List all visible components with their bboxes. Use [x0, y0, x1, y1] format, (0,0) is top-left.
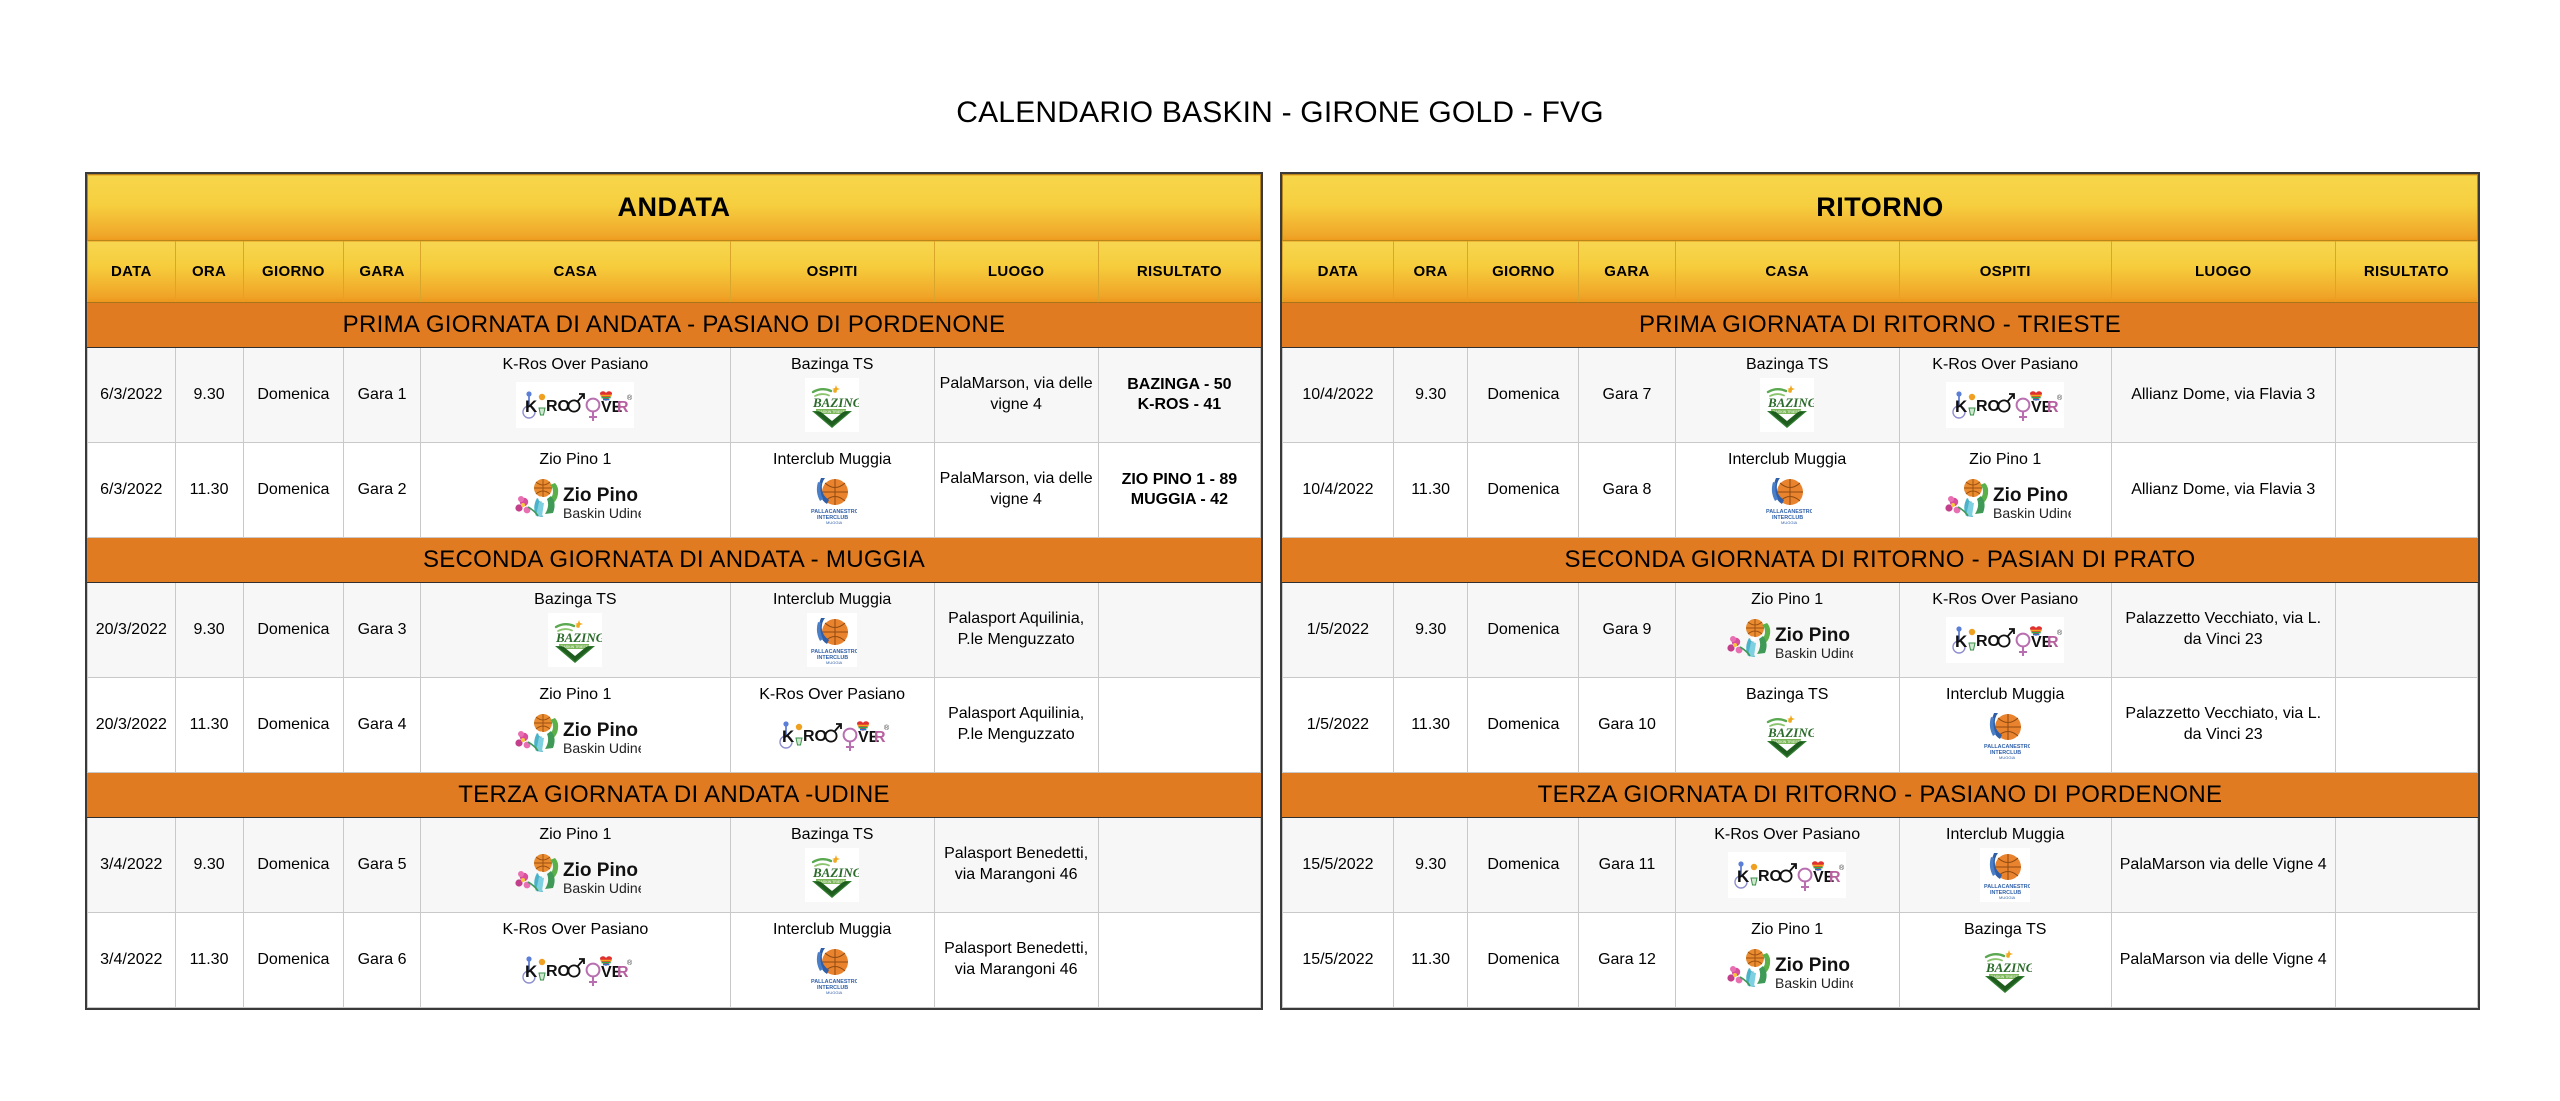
- team-name-ospiti: K-Ros Over Pasiano: [734, 686, 931, 704]
- column-header-ospiti: OSPITI: [730, 241, 934, 303]
- team-name-casa: Interclub Muggia: [1679, 451, 1896, 469]
- team-name-casa: Zio Pino 1: [424, 826, 727, 844]
- svg-text:BAZINGA: BAZINGA: [1985, 960, 2032, 975]
- cell-casa: Zio Pino 1 Zio Pino Baskin Udine: [1675, 913, 1899, 1008]
- ziopino-logo: Zio Pino Baskin Udine: [1721, 944, 1853, 996]
- team-name-ospiti: K-Ros Over Pasiano: [1903, 356, 2108, 374]
- column-header-row: DATAORAGIORNOGARACASAOSPITILUOGORISULTAT…: [88, 241, 1261, 303]
- cell-ora: 11.30: [175, 678, 243, 773]
- column-header-luogo: LUOGO: [2111, 241, 2335, 303]
- cell-data: 1/5/2022: [1283, 678, 1394, 773]
- muggia-logo: PALLACANESTRO INTERCLUB MUGGIA: [1980, 708, 2030, 762]
- team-name-casa: K-Ros Over Pasiano: [1679, 826, 1896, 844]
- cell-casa: K-Ros Over Pasiano K RO VE R ®: [420, 913, 730, 1008]
- cell-giorno: Domenica: [1468, 913, 1579, 1008]
- team-name-casa: Zio Pino 1: [424, 686, 727, 704]
- team-name-ospiti: Interclub Muggia: [1903, 826, 2108, 844]
- svg-text:RO: RO: [546, 398, 570, 415]
- team-name-ospiti: Bazinga TS: [1903, 921, 2108, 939]
- svg-text:BAZINGA: BAZINGA: [555, 630, 602, 645]
- team-logo-casa: K RO VE R ®: [1679, 846, 1896, 904]
- svg-text:Baskin Udine: Baskin Udine: [1775, 975, 1853, 991]
- team-logo-casa: Zio Pino Baskin Udine: [424, 706, 727, 764]
- svg-text:K: K: [1955, 632, 1968, 651]
- giornata-heading: PRIMA GIORNATA DI ANDATA - PASIANO DI PO…: [88, 303, 1261, 348]
- svg-text:K: K: [1955, 397, 1968, 416]
- svg-text:®: ®: [627, 394, 633, 402]
- cell-ospiti: K-Ros Over Pasiano K RO VE R ®: [1899, 583, 2111, 678]
- cell-risultato: [1098, 818, 1260, 913]
- cell-ospiti: Interclub Muggia PALLACANESTRO INTERCLUB…: [1899, 678, 2111, 773]
- svg-text:BAZINGA: BAZINGA: [1767, 725, 1814, 740]
- cell-casa: Interclub Muggia PALLACANESTRO INTERCLUB…: [1675, 443, 1899, 538]
- team-logo-ospiti: K RO VE R ®: [1903, 376, 2108, 434]
- ziopino-logo: Zio Pino Baskin Udine: [1721, 614, 1853, 666]
- cell-ora: 11.30: [1393, 443, 1468, 538]
- cell-giorno: Domenica: [1468, 678, 1579, 773]
- cell-data: 10/4/2022: [1283, 348, 1394, 443]
- table-row: 20/3/202211.30DomenicaGara 4Zio Pino 1 Z…: [88, 678, 1261, 773]
- table-andata: ANDATADATAORAGIORNOGARACASAOSPITILUOGORI…: [85, 172, 1263, 1010]
- bazinga-logo: BAZINGA BASKIN TRIESTE: [1760, 708, 1814, 762]
- column-header-gara: GARA: [1579, 241, 1675, 303]
- cell-risultato: [2335, 913, 2477, 1008]
- svg-text:MUGGIA: MUGGIA: [1999, 895, 2016, 900]
- team-logo-ospiti: PALLACANESTRO INTERCLUB MUGGIA: [734, 941, 931, 999]
- team-logo-ospiti: BAZINGA BASKIN TRIESTE: [734, 846, 931, 904]
- team-name-casa: Bazinga TS: [424, 591, 727, 609]
- cell-luogo: Allianz Dome, via Flavia 3: [2111, 348, 2335, 443]
- team-logo-ospiti: K RO VE R ®: [734, 706, 931, 764]
- cell-risultato: [1098, 913, 1260, 1008]
- team-name-casa: Zio Pino 1: [1679, 921, 1896, 939]
- kros-logo: K RO VE R ®: [773, 712, 891, 758]
- cell-gara: Gara 1: [344, 348, 421, 443]
- cell-luogo: Palasport Benedetti, via Marangoni 46: [934, 818, 1098, 913]
- schedule-grid-andata: ANDATADATAORAGIORNOGARACASAOSPITILUOGORI…: [87, 174, 1261, 1008]
- cell-ora: 9.30: [1393, 348, 1468, 443]
- giornata-row: SECONDA GIORNATA DI RITORNO - PASIAN DI …: [1283, 538, 2478, 583]
- cell-ora: 11.30: [175, 443, 243, 538]
- table-row: 10/4/20229.30DomenicaGara 7Bazinga TS BA…: [1283, 348, 2478, 443]
- column-header-risultato: RISULTATO: [2335, 241, 2477, 303]
- cell-luogo: PalaMarson, via delle vigne 4: [934, 348, 1098, 443]
- bazinga-logo: BAZINGA BASKIN TRIESTE: [805, 848, 859, 902]
- cell-casa: Zio Pino 1 Zio Pino Baskin Udine: [420, 443, 730, 538]
- kros-logo: K RO VE R ®: [516, 947, 634, 993]
- table-ritorno: RITORNODATAORAGIORNOGARACASAOSPITILUOGOR…: [1280, 172, 2480, 1010]
- cell-ospiti: K-Ros Over Pasiano K RO VE R ®: [730, 678, 934, 773]
- cell-data: 3/4/2022: [88, 818, 176, 913]
- giornata-heading: SECONDA GIORNATA DI RITORNO - PASIAN DI …: [1283, 538, 2478, 583]
- cell-risultato: ZIO PINO 1 - 89MUGGIA - 42: [1098, 443, 1260, 538]
- svg-text:BAZINGA: BAZINGA: [812, 395, 859, 410]
- team-logo-casa: BAZINGA BASKIN TRIESTE: [1679, 706, 1896, 764]
- column-header-row: DATAORAGIORNOGARACASAOSPITILUOGORISULTAT…: [1283, 241, 2478, 303]
- cell-gara: Gara 12: [1579, 913, 1675, 1008]
- cell-giorno: Domenica: [243, 348, 344, 443]
- cell-ospiti: Bazinga TS BAZINGA BASKIN TRIESTE: [1899, 913, 2111, 1008]
- cell-ospiti: Interclub Muggia PALLACANESTRO INTERCLUB…: [730, 583, 934, 678]
- svg-text:BAZINGA: BAZINGA: [812, 865, 859, 880]
- cell-casa: K-Ros Over Pasiano K RO VE R ®: [1675, 818, 1899, 913]
- giornata-row: PRIMA GIORNATA DI RITORNO - TRIESTE: [1283, 303, 2478, 348]
- bazinga-logo: BAZINGA BASKIN TRIESTE: [805, 378, 859, 432]
- svg-text:RO: RO: [803, 728, 827, 745]
- giornata-heading: PRIMA GIORNATA DI RITORNO - TRIESTE: [1283, 303, 2478, 348]
- table-row: 1/5/202211.30DomenicaGara 10Bazinga TS B…: [1283, 678, 2478, 773]
- bazinga-logo: BAZINGA BASKIN TRIESTE: [1978, 943, 2032, 997]
- svg-text:®: ®: [627, 959, 633, 967]
- cell-gara: Gara 10: [1579, 678, 1675, 773]
- team-logo-casa: K RO VE R ®: [424, 376, 727, 434]
- svg-text:K: K: [782, 727, 795, 746]
- cell-risultato: [2335, 678, 2477, 773]
- svg-text:Zio Pino: Zio Pino: [563, 485, 638, 506]
- svg-text:®: ®: [884, 724, 890, 732]
- cell-casa: Bazinga TS BAZINGA BASKIN TRIESTE: [420, 583, 730, 678]
- team-logo-ospiti: PALLACANESTRO INTERCLUB MUGGIA: [1903, 706, 2108, 764]
- column-header-luogo: LUOGO: [934, 241, 1098, 303]
- team-name-ospiti: Interclub Muggia: [734, 591, 931, 609]
- cell-giorno: Domenica: [1468, 348, 1579, 443]
- team-logo-ospiti: PALLACANESTRO INTERCLUB MUGGIA: [1903, 846, 2108, 904]
- kros-logo: K RO VE R ®: [516, 382, 634, 428]
- column-header-casa: CASA: [1675, 241, 1899, 303]
- column-header-ospiti: OSPITI: [1899, 241, 2111, 303]
- svg-text:K: K: [525, 397, 538, 416]
- cell-gara: Gara 2: [344, 443, 421, 538]
- cell-ospiti: Zio Pino 1 Zio Pino Baskin Udine: [1899, 443, 2111, 538]
- cell-data: 10/4/2022: [1283, 443, 1394, 538]
- svg-text:Zio Pino: Zio Pino: [1993, 485, 2068, 506]
- cell-luogo: Palazzetto Vecchiato, via L. da Vinci 23: [2111, 678, 2335, 773]
- team-name-ospiti: Bazinga TS: [734, 356, 931, 374]
- team-name-casa: K-Ros Over Pasiano: [424, 921, 727, 939]
- cell-ora: 9.30: [175, 818, 243, 913]
- cell-luogo: PalaMarson, via delle vigne 4: [934, 443, 1098, 538]
- table-row: 15/5/20229.30DomenicaGara 11K-Ros Over P…: [1283, 818, 2478, 913]
- cell-giorno: Domenica: [1468, 443, 1579, 538]
- svg-text:Baskin Udine: Baskin Udine: [563, 505, 641, 521]
- svg-text:Baskin Udine: Baskin Udine: [563, 880, 641, 896]
- cell-luogo: PalaMarson via delle Vigne 4: [2111, 913, 2335, 1008]
- svg-text:Zio Pino: Zio Pino: [1775, 625, 1850, 646]
- table-row: 15/5/202211.30DomenicaGara 12Zio Pino 1 …: [1283, 913, 2478, 1008]
- svg-text:MUGGIA: MUGGIA: [826, 520, 843, 525]
- team-name-ospiti: Interclub Muggia: [734, 451, 931, 469]
- cell-data: 1/5/2022: [1283, 583, 1394, 678]
- cell-gara: Gara 7: [1579, 348, 1675, 443]
- svg-text:Zio Pino: Zio Pino: [1775, 955, 1850, 976]
- cell-ora: 9.30: [175, 348, 243, 443]
- svg-text:RO: RO: [1976, 398, 2000, 415]
- cell-casa: Zio Pino 1 Zio Pino Baskin Udine: [420, 818, 730, 913]
- kros-logo: K RO VE R ®: [1946, 382, 2064, 428]
- cell-risultato: [2335, 443, 2477, 538]
- svg-text:®: ®: [1839, 864, 1845, 872]
- muggia-logo: PALLACANESTRO INTERCLUB MUGGIA: [1762, 473, 1812, 527]
- cell-giorno: Domenica: [1468, 583, 1579, 678]
- svg-text:RO: RO: [1758, 868, 1782, 885]
- cell-ospiti: Interclub Muggia PALLACANESTRO INTERCLUB…: [730, 443, 934, 538]
- team-logo-ospiti: PALLACANESTRO INTERCLUB MUGGIA: [734, 611, 931, 669]
- team-logo-casa: BAZINGA BASKIN TRIESTE: [1679, 376, 1896, 434]
- bazinga-logo: BAZINGA BASKIN TRIESTE: [548, 613, 602, 667]
- cell-ospiti: Bazinga TS BAZINGA BASKIN TRIESTE: [730, 348, 934, 443]
- cell-gara: Gara 9: [1579, 583, 1675, 678]
- cell-data: 6/3/2022: [88, 348, 176, 443]
- ziopino-logo: Zio Pino Baskin Udine: [1939, 474, 2071, 526]
- table-row: 6/3/202211.30DomenicaGara 2Zio Pino 1 Zi…: [88, 443, 1261, 538]
- cell-gara: Gara 3: [344, 583, 421, 678]
- cell-giorno: Domenica: [1468, 818, 1579, 913]
- column-header-gara: GARA: [344, 241, 421, 303]
- cell-luogo: PalaMarson via delle Vigne 4: [2111, 818, 2335, 913]
- cell-risultato: [2335, 818, 2477, 913]
- table-banner-ritorno: RITORNO: [1283, 175, 2478, 241]
- schedule-grid-ritorno: RITORNODATAORAGIORNOGARACASAOSPITILUOGOR…: [1282, 174, 2478, 1008]
- svg-text:BAZINGA: BAZINGA: [1767, 395, 1814, 410]
- column-header-giorno: GIORNO: [243, 241, 344, 303]
- svg-text:®: ®: [2057, 629, 2063, 637]
- svg-text:®: ®: [2057, 394, 2063, 402]
- calendar-tables: ANDATADATAORAGIORNOGARACASAOSPITILUOGORI…: [0, 172, 2560, 1022]
- team-logo-casa: Zio Pino Baskin Udine: [424, 846, 727, 904]
- muggia-logo: PALLACANESTRO INTERCLUB MUGGIA: [1980, 848, 2030, 902]
- cell-gara: Gara 4: [344, 678, 421, 773]
- team-name-ospiti: Interclub Muggia: [1903, 686, 2108, 704]
- team-logo-casa: BAZINGA BASKIN TRIESTE: [424, 611, 727, 669]
- svg-text:Baskin Udine: Baskin Udine: [1993, 505, 2071, 521]
- column-header-giorno: GIORNO: [1468, 241, 1579, 303]
- team-logo-casa: PALLACANESTRO INTERCLUB MUGGIA: [1679, 471, 1896, 529]
- cell-casa: K-Ros Over Pasiano K RO VE R ®: [420, 348, 730, 443]
- kros-logo: K RO VE R ®: [1946, 617, 2064, 663]
- team-logo-ospiti: Zio Pino Baskin Udine: [1903, 471, 2108, 529]
- team-logo-ospiti: BAZINGA BASKIN TRIESTE: [734, 376, 931, 434]
- team-logo-casa: Zio Pino Baskin Udine: [424, 471, 727, 529]
- cell-luogo: Palasport Aquilinia, P.le Menguzzato: [934, 583, 1098, 678]
- table-row: 6/3/20229.30DomenicaGara 1K-Ros Over Pas…: [88, 348, 1261, 443]
- cell-ora: 9.30: [175, 583, 243, 678]
- team-name-casa: Zio Pino 1: [424, 451, 727, 469]
- svg-text:Baskin Udine: Baskin Udine: [563, 740, 641, 756]
- cell-luogo: Palasport Benedetti, via Marangoni 46: [934, 913, 1098, 1008]
- bazinga-logo: BAZINGA BASKIN TRIESTE: [1760, 378, 1814, 432]
- team-name-casa: K-Ros Over Pasiano: [424, 356, 727, 374]
- svg-text:K: K: [1737, 867, 1750, 886]
- cell-luogo: Allianz Dome, via Flavia 3: [2111, 443, 2335, 538]
- cell-luogo: Palasport Aquilinia, P.le Menguzzato: [934, 678, 1098, 773]
- table-row: 3/4/202211.30DomenicaGara 6K-Ros Over Pa…: [88, 913, 1261, 1008]
- cell-data: 20/3/2022: [88, 678, 176, 773]
- cell-gara: Gara 5: [344, 818, 421, 913]
- muggia-logo: PALLACANESTRO INTERCLUB MUGGIA: [807, 613, 857, 667]
- column-header-risultato: RISULTATO: [1098, 241, 1260, 303]
- column-header-ora: ORA: [1393, 241, 1468, 303]
- muggia-logo: PALLACANESTRO INTERCLUB MUGGIA: [807, 473, 857, 527]
- giornata-heading: TERZA GIORNATA DI ANDATA -UDINE: [88, 773, 1261, 818]
- svg-text:MUGGIA: MUGGIA: [1999, 755, 2016, 760]
- cell-risultato: [2335, 348, 2477, 443]
- banner-row: ANDATA: [88, 175, 1261, 241]
- cell-gara: Gara 8: [1579, 443, 1675, 538]
- giornata-heading: TERZA GIORNATA DI RITORNO - PASIANO DI P…: [1283, 773, 2478, 818]
- cell-data: 15/5/2022: [1283, 913, 1394, 1008]
- table-row: 3/4/20229.30DomenicaGara 5Zio Pino 1 Zio…: [88, 818, 1261, 913]
- ziopino-logo: Zio Pino Baskin Udine: [509, 849, 641, 901]
- svg-text:MUGGIA: MUGGIA: [826, 660, 843, 665]
- column-header-data: DATA: [1283, 241, 1394, 303]
- cell-luogo: Palazzetto Vecchiato, via L. da Vinci 23: [2111, 583, 2335, 678]
- team-name-casa: Bazinga TS: [1679, 686, 1896, 704]
- ziopino-logo: Zio Pino Baskin Udine: [509, 709, 641, 761]
- cell-casa: Bazinga TS BAZINGA BASKIN TRIESTE: [1675, 348, 1899, 443]
- table-row: 1/5/20229.30DomenicaGara 9Zio Pino 1 Zio…: [1283, 583, 2478, 678]
- cell-data: 6/3/2022: [88, 443, 176, 538]
- cell-data: 3/4/2022: [88, 913, 176, 1008]
- cell-gara: Gara 11: [1579, 818, 1675, 913]
- giornata-row: SECONDA GIORNATA DI ANDATA - MUGGIA: [88, 538, 1261, 583]
- cell-giorno: Domenica: [243, 678, 344, 773]
- column-header-casa: CASA: [420, 241, 730, 303]
- column-header-data: DATA: [88, 241, 176, 303]
- svg-text:K: K: [525, 962, 538, 981]
- cell-ospiti: Bazinga TS BAZINGA BASKIN TRIESTE: [730, 818, 934, 913]
- giornata-heading: SECONDA GIORNATA DI ANDATA - MUGGIA: [88, 538, 1261, 583]
- cell-giorno: Domenica: [243, 818, 344, 913]
- svg-text:Baskin Udine: Baskin Udine: [1775, 645, 1853, 661]
- kros-logo: K RO VE R ®: [1728, 852, 1846, 898]
- svg-text:RO: RO: [1976, 633, 2000, 650]
- ziopino-logo: Zio Pino Baskin Udine: [509, 474, 641, 526]
- cell-ospiti: Interclub Muggia PALLACANESTRO INTERCLUB…: [1899, 818, 2111, 913]
- cell-data: 15/5/2022: [1283, 818, 1394, 913]
- team-name-casa: Bazinga TS: [1679, 356, 1896, 374]
- team-logo-ospiti: K RO VE R ®: [1903, 611, 2108, 669]
- giornata-row: TERZA GIORNATA DI ANDATA -UDINE: [88, 773, 1261, 818]
- cell-ora: 9.30: [1393, 818, 1468, 913]
- table-banner-andata: ANDATA: [88, 175, 1261, 241]
- svg-text:MUGGIA: MUGGIA: [1781, 520, 1798, 525]
- cell-casa: Zio Pino 1 Zio Pino Baskin Udine: [420, 678, 730, 773]
- team-logo-casa: Zio Pino Baskin Udine: [1679, 941, 1896, 999]
- svg-text:RO: RO: [546, 963, 570, 980]
- team-name-ospiti: K-Ros Over Pasiano: [1903, 591, 2108, 609]
- team-name-ospiti: Interclub Muggia: [734, 921, 931, 939]
- team-name-casa: Zio Pino 1: [1679, 591, 1896, 609]
- team-logo-ospiti: BAZINGA BASKIN TRIESTE: [1903, 941, 2108, 999]
- page-title: CALENDARIO BASKIN - GIRONE GOLD - FVG: [0, 96, 2560, 130]
- cell-ora: 11.30: [1393, 678, 1468, 773]
- svg-text:Zio Pino: Zio Pino: [563, 720, 638, 741]
- cell-giorno: Domenica: [243, 913, 344, 1008]
- cell-risultato: [1098, 583, 1260, 678]
- cell-ora: 9.30: [1393, 583, 1468, 678]
- muggia-logo: PALLACANESTRO INTERCLUB MUGGIA: [807, 943, 857, 997]
- cell-giorno: Domenica: [243, 583, 344, 678]
- giornata-row: TERZA GIORNATA DI RITORNO - PASIANO DI P…: [1283, 773, 2478, 818]
- team-logo-casa: Zio Pino Baskin Udine: [1679, 611, 1896, 669]
- cell-risultato: [1098, 678, 1260, 773]
- team-name-ospiti: Bazinga TS: [734, 826, 931, 844]
- cell-casa: Zio Pino 1 Zio Pino Baskin Udine: [1675, 583, 1899, 678]
- svg-text:Zio Pino: Zio Pino: [563, 860, 638, 881]
- team-logo-ospiti: PALLACANESTRO INTERCLUB MUGGIA: [734, 471, 931, 529]
- cell-risultato: [2335, 583, 2477, 678]
- cell-ora: 11.30: [175, 913, 243, 1008]
- cell-risultato: BAZINGA - 50K-ROS - 41: [1098, 348, 1260, 443]
- table-row: 20/3/20229.30DomenicaGara 3Bazinga TS BA…: [88, 583, 1261, 678]
- banner-row: RITORNO: [1283, 175, 2478, 241]
- cell-data: 20/3/2022: [88, 583, 176, 678]
- cell-giorno: Domenica: [243, 443, 344, 538]
- svg-text:MUGGIA: MUGGIA: [826, 990, 843, 995]
- cell-gara: Gara 6: [344, 913, 421, 1008]
- column-header-ora: ORA: [175, 241, 243, 303]
- team-name-ospiti: Zio Pino 1: [1903, 451, 2108, 469]
- cell-ospiti: K-Ros Over Pasiano K RO VE R ®: [1899, 348, 2111, 443]
- cell-casa: Bazinga TS BAZINGA BASKIN TRIESTE: [1675, 678, 1899, 773]
- cell-ospiti: Interclub Muggia PALLACANESTRO INTERCLUB…: [730, 913, 934, 1008]
- team-logo-casa: K RO VE R ®: [424, 941, 727, 999]
- table-row: 10/4/202211.30DomenicaGara 8Interclub Mu…: [1283, 443, 2478, 538]
- cell-ora: 11.30: [1393, 913, 1468, 1008]
- giornata-row: PRIMA GIORNATA DI ANDATA - PASIANO DI PO…: [88, 303, 1261, 348]
